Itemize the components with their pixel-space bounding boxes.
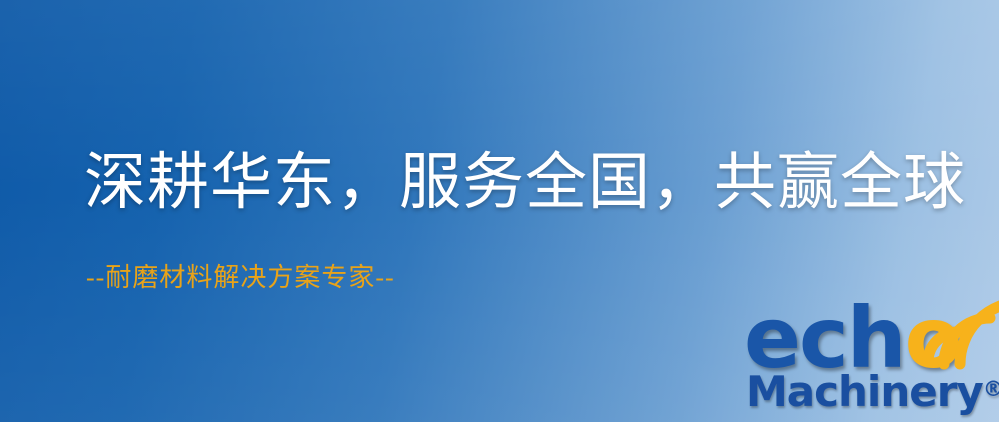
echo-machinery-logo: echo Machinery® xyxy=(742,296,999,422)
logo-tagline: Machinery® xyxy=(746,368,999,413)
logo-tagline-text: Machinery xyxy=(746,367,983,416)
registered-trademark-icon: ® xyxy=(983,377,999,401)
promo-banner: 深耕华东，服务全国，共赢全球 --耐磨材料解决方案专家-- echo Machi… xyxy=(0,0,999,422)
banner-subheadline: --耐磨材料解决方案专家-- xyxy=(86,264,395,293)
banner-headline: 深耕华东，服务全国，共赢全球 xyxy=(84,152,966,214)
